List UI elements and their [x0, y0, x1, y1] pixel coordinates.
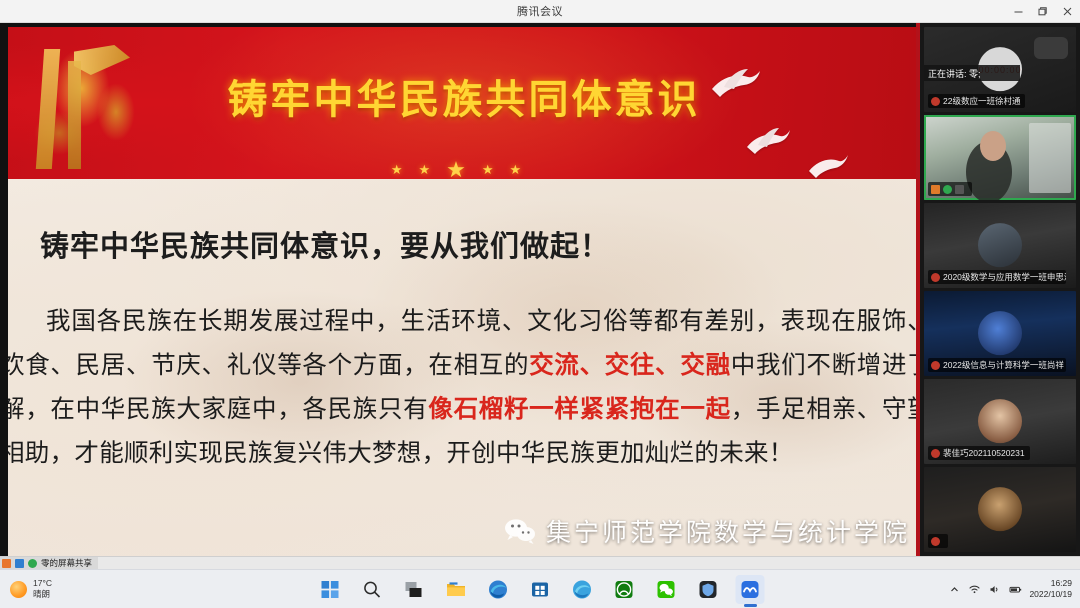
file-explorer-button[interactable]	[442, 575, 471, 604]
wechat-button[interactable]	[652, 575, 681, 604]
participant-name-badge	[928, 534, 948, 548]
weather-condition: 晴朗	[33, 589, 52, 600]
avatar	[978, 487, 1022, 531]
watermark-text: 集宁师范学院数学与统计学院	[546, 513, 910, 549]
participant-rail: 00:00:00 正在讲话: 零; 22级数应一班徐村通 2020级数学与应用数…	[920, 23, 1080, 556]
slide-body-text: 我国各民族在长期发展过程中，生活环境、文化习俗等都有差别，表现在服饰、饮食、民居…	[8, 299, 920, 475]
speaking-indicator: 正在讲话: 零;	[924, 65, 1020, 81]
close-icon[interactable]	[1054, 0, 1080, 23]
security-button[interactable]	[694, 575, 723, 604]
participant-tile[interactable]: 2020级数学与应用数学一班申思洋	[924, 203, 1076, 288]
mic-muted-icon	[931, 537, 940, 546]
start-button[interactable]	[316, 575, 345, 604]
mic-on-icon	[28, 559, 37, 568]
weather-temp: 17°C	[33, 578, 52, 589]
tencent-meeting-button[interactable]	[736, 575, 765, 604]
wechat-icon	[656, 579, 677, 600]
participant-name-badge: 22级数应一班徐村通	[928, 94, 1025, 108]
minimize-icon[interactable]	[1006, 0, 1030, 23]
microsoft-store-icon	[530, 579, 551, 600]
participant-tile[interactable]: 2022级信息与计算科学一班尚祥	[924, 291, 1076, 376]
network-icon[interactable]	[969, 584, 980, 595]
screen-icon	[15, 559, 24, 568]
tencent-meeting-icon	[740, 579, 761, 600]
search-button[interactable]	[358, 575, 387, 604]
presentation-slide: 铸牢中华民族共同体意识 ★★★★★ 铸牢中华民族共同体意识，要从我们做起！ 我国…	[8, 27, 920, 556]
task-view-button[interactable]	[400, 575, 429, 604]
file-explorer-icon	[446, 579, 467, 600]
edge-button[interactable]	[484, 575, 513, 604]
mic-muted-icon	[931, 273, 940, 282]
participant-name-badge: 裴佳巧202110520231	[928, 446, 1030, 460]
volume-icon[interactable]	[989, 584, 1000, 595]
xbox-button[interactable]	[610, 575, 639, 604]
participant-name-badge: 2020级数学与应用数学一班申思洋	[928, 270, 1066, 284]
body-highlight-1: 交流、交往、交融	[529, 350, 731, 379]
search-icon	[362, 579, 383, 600]
clock[interactable]: 16:29 2022/10/19	[1029, 578, 1072, 600]
participant-tile[interactable]	[924, 115, 1076, 200]
edge-beta-button[interactable]	[568, 575, 597, 604]
participant-name: 22级数应一班徐村通	[943, 95, 1020, 107]
task-view-icon	[404, 579, 425, 600]
window-title: 腾讯会议	[0, 3, 1080, 19]
avatar	[978, 399, 1022, 443]
window-controls	[1006, 0, 1080, 23]
taskbar: 17°C 晴朗	[0, 569, 1080, 608]
microsoft-store-button[interactable]	[526, 575, 555, 604]
share-status-chip[interactable]: 零的屏幕共享	[0, 557, 98, 570]
user-icon	[931, 185, 940, 194]
security-icon	[698, 579, 719, 600]
share-label: 零的屏幕共享	[41, 557, 92, 569]
mic-muted-icon	[931, 361, 940, 370]
dove-icon	[744, 123, 792, 159]
battery-icon[interactable]	[1009, 584, 1020, 595]
camera-icon	[955, 185, 964, 194]
xbox-icon	[614, 579, 635, 600]
edge-icon	[488, 579, 509, 600]
star-decoration: ★★★★★	[8, 157, 920, 179]
edge-beta-icon	[572, 579, 593, 600]
mic-on-icon	[943, 185, 952, 194]
start-icon	[320, 579, 341, 600]
clock-time: 16:29	[1029, 578, 1072, 589]
clock-date: 2022/10/19	[1029, 589, 1072, 600]
slide-banner-title: 铸牢中华民族共同体意识	[8, 67, 920, 125]
restore-icon[interactable]	[1030, 0, 1054, 23]
participant-tile[interactable]: 裴佳巧202110520231	[924, 379, 1076, 464]
window-titlebar: 腾讯会议	[0, 0, 1080, 23]
taskbar-icons	[316, 575, 765, 604]
participant-name-badge: 2022级信息与计算科学一班尚祥	[928, 358, 1066, 372]
mic-muted-icon	[931, 449, 940, 458]
share-app-icon	[2, 559, 11, 568]
wechat-icon	[504, 518, 536, 545]
participant-tile[interactable]: 00:00:00 正在讲话: 零; 22级数应一班徐村通	[924, 27, 1076, 112]
participant-tile[interactable]	[924, 467, 1076, 552]
avatar	[978, 223, 1022, 267]
participant-name: 2022级信息与计算科学一班尚祥	[943, 359, 1064, 371]
participant-name-badge	[928, 182, 972, 196]
sun-icon	[10, 581, 27, 598]
screen-share-bar: 零的屏幕共享	[0, 556, 1080, 569]
system-tray: 16:29 2022/10/19	[949, 578, 1072, 600]
weather-widget[interactable]: 17°C 晴朗	[10, 578, 200, 600]
avatar	[978, 311, 1022, 355]
slide-subtitle: 铸牢中华民族共同体意识，要从我们做起！	[40, 223, 740, 265]
watermark: 集宁师范学院数学与统计学院	[504, 513, 910, 549]
mic-muted-icon	[931, 97, 940, 106]
participant-name: 裴佳巧202110520231	[943, 447, 1025, 459]
slide-banner: 铸牢中华民族共同体意识 ★★★★★	[8, 27, 920, 179]
shared-screen-stage: 铸牢中华民族共同体意识 ★★★★★ 铸牢中华民族共同体意识，要从我们做起！ 我国…	[0, 23, 920, 556]
body-highlight-2: 像石榴籽一样紧紧抱在一起	[428, 394, 730, 423]
rail-left-edge	[916, 23, 920, 556]
participant-name: 2020级数学与应用数学一班申思洋	[943, 271, 1066, 283]
chevron-up-icon[interactable]	[949, 584, 960, 595]
